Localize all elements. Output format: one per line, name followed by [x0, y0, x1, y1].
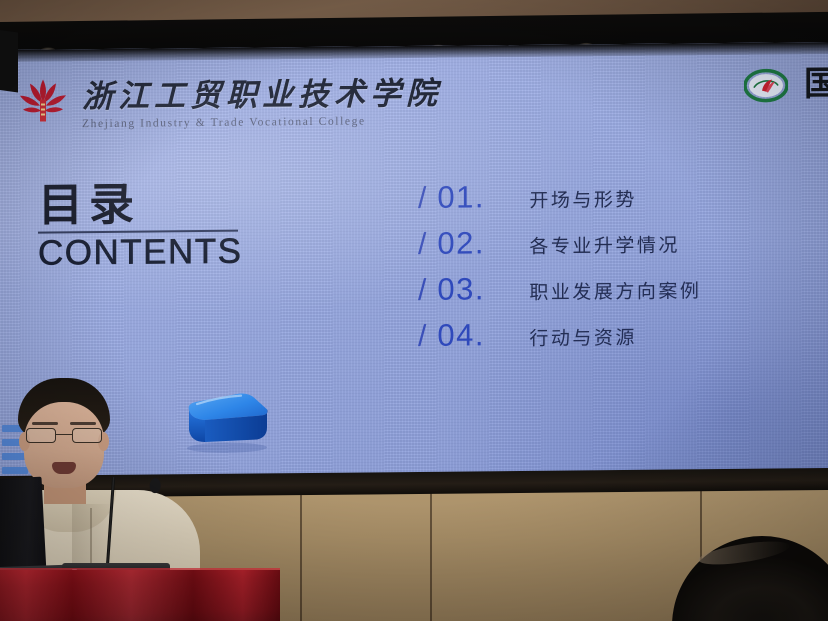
contents-item-04[interactable]: / 04. 行动与资源: [418, 317, 701, 366]
glasses-lens: [26, 428, 56, 443]
slash-icon: /: [418, 230, 426, 260]
glasses-lens: [72, 428, 102, 443]
contents-item-label: 职业发展方向案例: [529, 282, 701, 303]
contents-item-number: 04.: [437, 319, 513, 351]
slide-header-right: 国: [744, 68, 828, 103]
slash-icon: /: [418, 276, 426, 306]
glasses-icon: [26, 428, 102, 443]
slash-icon: /: [418, 184, 426, 214]
screen-left-bezel: [0, 30, 18, 93]
contents-item-03[interactable]: / 03. 职业发展方向案例: [418, 271, 701, 320]
presenter-eyebrow: [32, 422, 58, 425]
presenter-eyebrow: [70, 422, 96, 425]
college-name-en: Zhejiang Industry & Trade Vocational Col…: [82, 115, 442, 130]
page-title-cn: 目录: [38, 181, 243, 230]
contents-list: / 01. 开场与形势 / 02. 各专业升学情况 / 03. 职业发展方向案例…: [418, 179, 701, 366]
contents-title-block: 目录 CONTENTS: [38, 181, 243, 273]
lotus-flower-logo-icon: [16, 75, 70, 128]
college-name-cn: 浙江工贸职业技术学院: [82, 68, 442, 116]
slash-icon: /: [418, 322, 426, 352]
microphone-stem: [106, 477, 115, 565]
guo-character: 国: [804, 68, 828, 102]
slide-header: 浙江工贸职业技术学院 Zhejiang Industry & Trade Voc…: [16, 68, 442, 131]
contents-item-label: 开场与形势: [529, 191, 637, 211]
contents-item-label: 各专业升学情况: [529, 236, 680, 256]
contents-item-number: 02.: [437, 227, 513, 259]
conference-room-photo: 浙江工贸职业技术学院 Zhejiang Industry & Trade Voc…: [0, 0, 828, 621]
laptop-screen: [0, 477, 46, 576]
contents-item-01[interactable]: / 01. 开场与形势: [418, 179, 701, 228]
microphone-head: [149, 478, 161, 494]
contents-item-02[interactable]: / 02. 各专业升学情况: [418, 225, 701, 274]
contents-item-number: 01.: [437, 181, 513, 213]
page-title-en: CONTENTS: [38, 234, 243, 273]
red-draped-table: [0, 570, 280, 621]
contents-item-number: 03.: [437, 273, 513, 305]
glasses-bridge: [56, 434, 72, 435]
audience-member-head: [672, 536, 828, 621]
contents-item-label: 行动与资源: [529, 329, 637, 349]
green-circular-emblem-icon: [744, 68, 788, 102]
